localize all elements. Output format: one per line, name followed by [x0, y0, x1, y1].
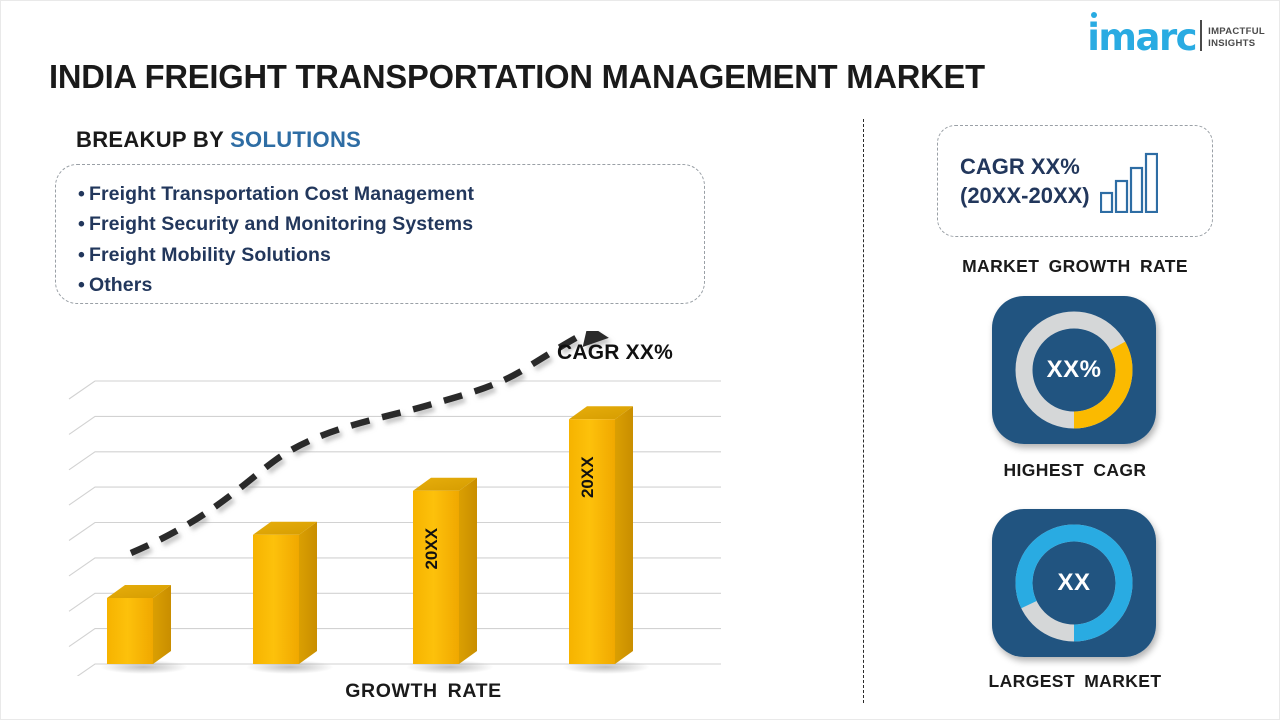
list-item: •Freight Security and Monitoring Systems: [78, 209, 704, 239]
list-item-label: Freight Mobility Solutions: [89, 244, 331, 266]
bar: [253, 535, 299, 664]
market-growth-rate-caption: MARKET GROWTH RATE: [937, 256, 1213, 277]
cagr-box-line1: CAGR XX%: [960, 152, 1090, 181]
market-growth-rate-box: CAGR XX% (20XX-20XX): [937, 125, 1213, 237]
highest-cagr-caption: HIGHEST CAGR: [937, 460, 1213, 481]
slide-canvas: imarc IMPACTFUL INSIGHTS INDIA FREIGHT T…: [0, 0, 1280, 720]
chart-x-axis-label: GROWTH RATE: [61, 680, 786, 703]
page-title: INDIA FREIGHT TRANSPORTATION MANAGEMENT …: [49, 58, 985, 96]
panel-divider: [863, 119, 864, 703]
chart-cagr-annotation: CAGR XX%: [557, 341, 673, 365]
largest-market-value: XX: [992, 509, 1156, 657]
bar: [569, 419, 615, 664]
highest-cagr-value: XX%: [992, 296, 1156, 444]
bar-side-face: [153, 585, 171, 664]
growth-rate-bar-chart: 20XX20XX GROWTH RATE: [61, 331, 761, 706]
logo-divider: [1200, 20, 1202, 51]
bar: [107, 598, 153, 664]
logo-tagline: IMPACTFUL INSIGHTS: [1208, 26, 1265, 53]
list-item: •Freight Transportation Cost Management: [78, 179, 704, 209]
breakup-heading-highlight: SOLUTIONS: [230, 127, 361, 152]
bar-value-label: 20XX: [422, 527, 441, 569]
chart-bars: [100, 406, 649, 674]
cagr-trend-arrow: [131, 331, 609, 553]
list-item-label: Others: [89, 274, 152, 296]
highest-cagr-card: XX%: [992, 296, 1156, 444]
list-item-label: Freight Transportation Cost Management: [89, 183, 474, 205]
logo-tagline-line2: INSIGHTS: [1208, 38, 1265, 50]
logo-dot-icon: [1091, 12, 1097, 18]
logo-wordmark: imarc: [1087, 22, 1200, 53]
cagr-box-line2: (20XX-20XX): [960, 181, 1090, 210]
breakup-heading-prefix: BREAKUP BY: [76, 127, 230, 152]
bar-side-face: [459, 478, 477, 664]
bullet-dot-icon: •: [78, 244, 85, 266]
list-item: •Freight Mobility Solutions: [78, 240, 704, 270]
bullet-dot-icon: •: [78, 183, 85, 205]
solutions-list-box: •Freight Transportation Cost Management …: [55, 164, 705, 304]
gridline: [69, 381, 721, 399]
list-item-label: Freight Security and Monitoring Systems: [89, 213, 473, 235]
bar-chart-icon: [1100, 151, 1158, 218]
bar-side-face: [615, 406, 633, 664]
cagr-box-text: CAGR XX% (20XX-20XX): [960, 152, 1090, 210]
logo-wordmark-text: imarc: [1087, 16, 1196, 59]
bar: [413, 491, 459, 664]
largest-market-card: XX: [992, 509, 1156, 657]
largest-market-caption: LARGEST MARKET: [937, 671, 1213, 692]
logo-tagline-line1: IMPACTFUL: [1208, 26, 1265, 38]
imarc-logo: imarc IMPACTFUL INSIGHTS: [1087, 13, 1265, 53]
list-item: •Others: [78, 270, 704, 300]
bullet-dot-icon: •: [78, 213, 85, 235]
bar-value-label: 20XX: [578, 456, 597, 498]
chart-plot-area: 20XX20XX: [61, 331, 786, 676]
bar-side-face: [299, 522, 317, 664]
bullet-dot-icon: •: [78, 274, 85, 296]
breakup-heading: BREAKUP BY SOLUTIONS: [76, 127, 361, 153]
